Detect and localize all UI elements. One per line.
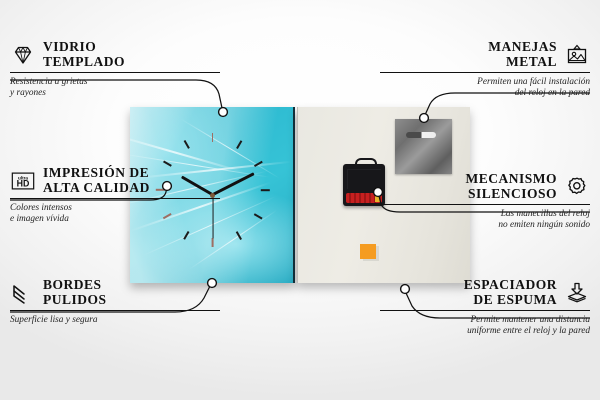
feature-desc-line1: Superficie lisa y segura [10,315,220,326]
feature-impresion-alta-calidad[interactable]: ultra HD IMPRESIÓN DE ALTA CALIDAD Color… [10,166,220,226]
hanger-slot [406,132,436,138]
feature-desc-line2: del reloj en la pared [380,88,590,99]
divider [380,72,590,73]
hd-badge-large: HD [17,178,30,188]
divider [10,72,220,73]
hanging-frame-icon [564,43,590,67]
feature-title-line2: DE ESPUMA [464,293,557,308]
gear-icon [564,175,590,199]
feature-title-line1: BORDES [43,278,107,293]
movement-grid [347,169,381,189]
feature-title-line2: TEMPLADO [43,55,125,70]
feature-desc-line2: e imagen vívida [10,214,220,225]
feature-desc-line1: Permite mantener una distancia [380,315,590,326]
feature-title-line2: ALTA CALIDAD [43,181,150,196]
feature-desc-line2: no emiten ningún sonido [380,220,590,231]
feature-title-line1: MANEJAS [488,40,557,55]
divider [380,204,590,205]
movement-lug [355,158,377,168]
feature-vidrio-templado[interactable]: VIDRIO TEMPLADO Resistencia a grietas y … [10,40,220,100]
clock-movement [343,164,385,206]
feature-title-line1: MECANISMO [466,172,558,187]
feature-desc-line1: Las manecillas del reloj [380,209,590,220]
divider [10,310,220,311]
feature-desc-line1: Permiten una fácil instalación [380,77,590,88]
feature-espaciador-de-espuma[interactable]: ESPACIADOR DE ESPUMA Permite mantener un… [380,278,590,338]
diamond-icon [10,43,36,67]
ultra-hd-icon: ultra HD [10,169,36,193]
feature-desc-line1: Colores intensos [10,203,220,214]
feature-desc-line2: y rayones [10,88,220,99]
feature-title-line1: VIDRIO [43,40,125,55]
battery [346,193,382,203]
feature-title-line1: IMPRESIÓN DE [43,166,150,181]
feature-desc-line1: Resistencia a grietas [10,77,220,88]
polished-edges-icon [10,281,36,305]
divider [380,310,590,311]
foam-spacer-icon [564,281,590,305]
foam-spacer [360,244,376,259]
divider [10,198,220,199]
feature-mecanismo-silencioso[interactable]: MECANISMO SILENCIOSO Las manecillas del … [380,172,590,232]
infographic-canvas: VIDRIO TEMPLADO Resistencia a grietas y … [0,0,600,400]
feature-desc-line2: uniforme entre el reloj y la pared [380,326,590,337]
feature-title-line2: SILENCIOSO [466,187,558,202]
feature-bordes-pulidos[interactable]: BORDES PULIDOS Superficie lisa y segura [10,278,220,326]
feature-title-line2: PULIDOS [43,293,107,308]
feature-manejas-metal[interactable]: MANEJAS METAL Permiten una fácil instala… [380,40,590,100]
feature-title-line1: ESPACIADOR [464,278,557,293]
feature-title-line2: METAL [488,55,557,70]
metal-hanger-plate [395,119,452,174]
